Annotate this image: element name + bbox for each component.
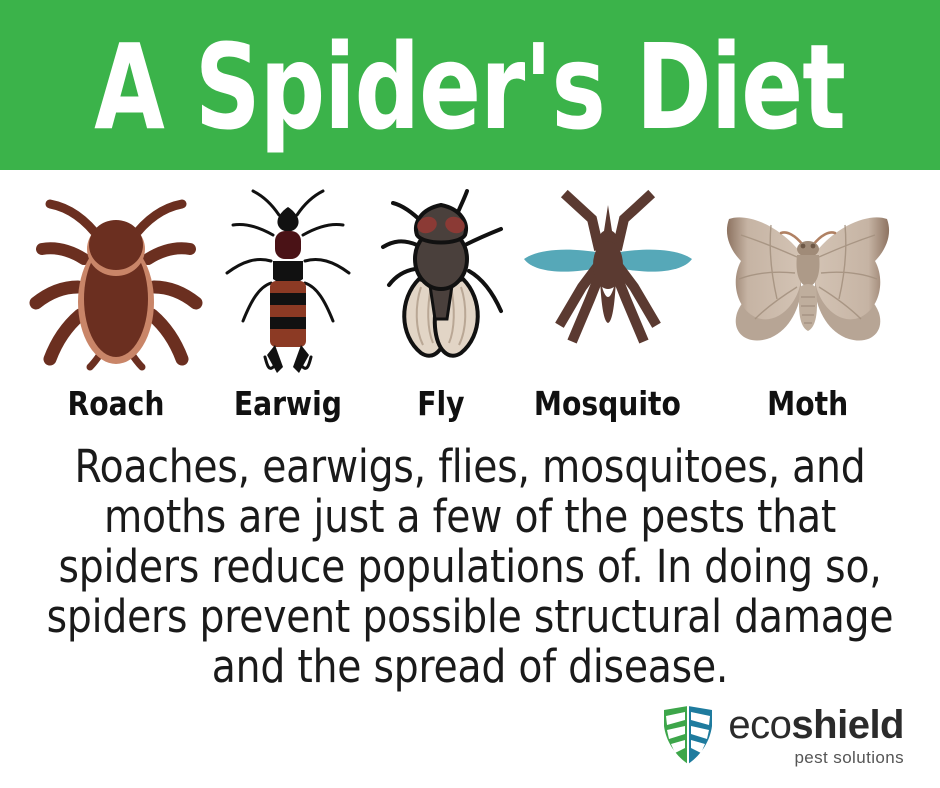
fly-art — [371, 185, 511, 375]
insect-item-roach: Roach — [24, 185, 208, 420]
insect-item-fly: Fly — [367, 185, 516, 420]
logo-word-eco: eco — [728, 703, 791, 747]
logo-text-block: ecoshield pest solutions — [728, 705, 904, 766]
fly-icon — [371, 187, 511, 373]
insect-label-moth: Moth — [767, 387, 848, 420]
insect-label-fly: Fly — [418, 387, 465, 420]
ecoshield-logo: ecoshield pest solutions — [660, 704, 904, 766]
insect-label-earwig: Earwig — [234, 387, 342, 420]
insect-label-roach: Roach — [68, 387, 165, 420]
insect-item-earwig: Earwig — [208, 185, 367, 420]
header-banner: A Spider's Diet — [0, 0, 940, 170]
earwig-art — [213, 185, 363, 375]
shield-icon — [660, 704, 716, 766]
body-paragraph: Roaches, earwigs, flies, mosquitoes, and… — [43, 442, 897, 692]
logo-word-shield: shield — [791, 703, 904, 747]
mosquito-icon — [520, 187, 696, 373]
earwig-icon — [213, 187, 363, 373]
page-title: A Spider's Diet — [95, 28, 846, 146]
moth-art — [701, 185, 915, 375]
roach-icon — [28, 187, 204, 373]
insect-item-moth: Moth — [700, 185, 916, 420]
logo-tagline: pest solutions — [794, 749, 904, 766]
moth-icon — [701, 187, 915, 373]
logo-wordmark: ecoshield — [728, 705, 904, 745]
roach-art — [28, 185, 204, 375]
mosquito-art — [520, 185, 696, 375]
insect-item-mosquito: Mosquito — [516, 185, 700, 420]
insect-strip: Roach — [0, 170, 940, 420]
insect-label-mosquito: Mosquito — [534, 387, 681, 420]
